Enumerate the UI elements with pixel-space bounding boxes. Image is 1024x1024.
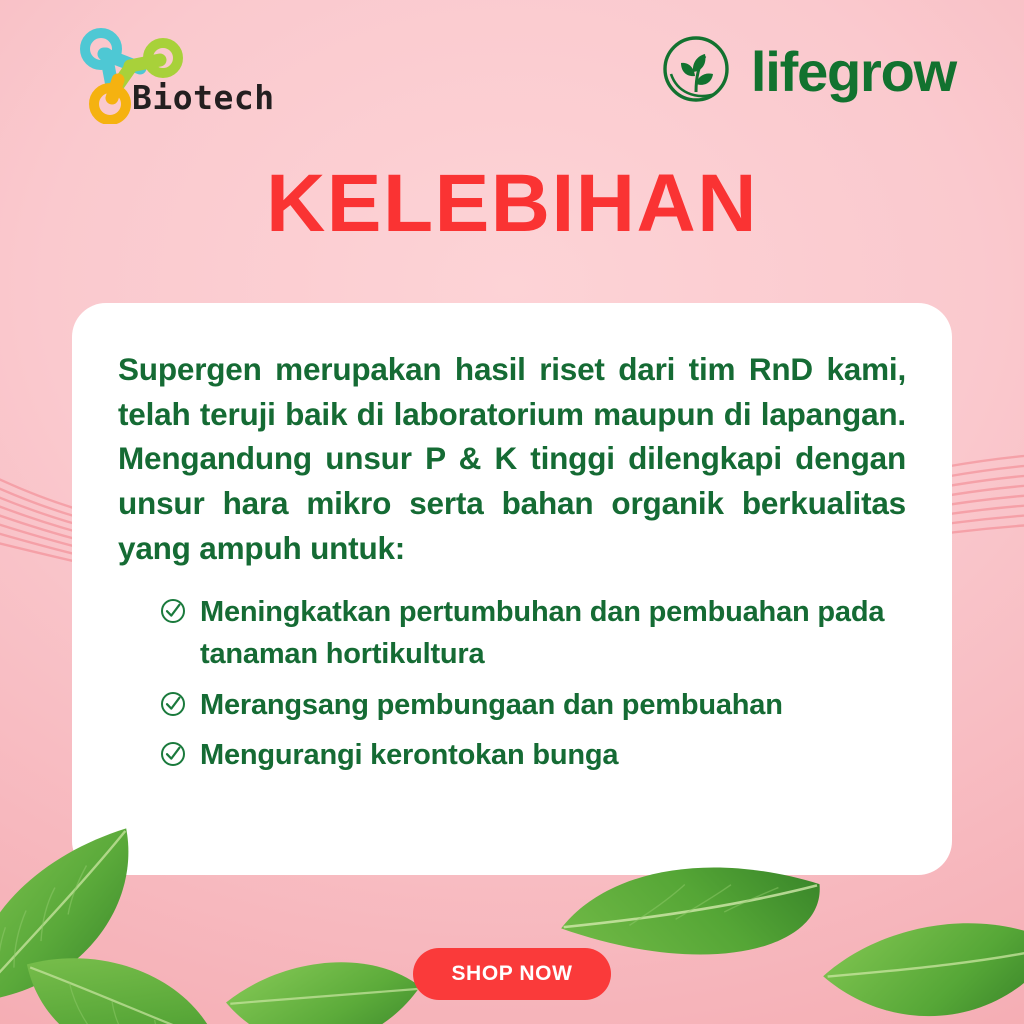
biotech-logo: Biotech [62,24,262,124]
leaf-icon [0,925,236,1024]
leaf-icon [218,933,438,1024]
page-title: KELEBIHAN [0,163,1024,245]
check-circle-icon [160,691,186,722]
check-circle-icon [160,598,186,629]
benefit-label: Meningkatkan pertumbuhan dan pembuahan p… [200,591,906,676]
list-item: Mengurangi kerontokan bunga [160,734,906,777]
benefits-list: Meningkatkan pertumbuhan dan pembuahan p… [118,591,906,778]
benefit-label: Mengurangi kerontokan bunga [200,734,618,777]
shop-now-button[interactable]: SHOP NOW [413,948,611,1000]
plant-in-circle-icon [657,30,735,113]
intro-paragraph: Supergen merupakan hasil riset dari tim … [118,347,906,571]
benefit-label: Merangsang pembungaan dan pembuahan [200,684,783,727]
list-item: Meningkatkan pertumbuhan dan pembuahan p… [160,591,906,676]
content-card: Supergen merupakan hasil riset dari tim … [72,303,952,875]
list-item: Merangsang pembungaan dan pembuahan [160,684,906,727]
leaf-icon [810,864,1024,1024]
lifegrow-wordmark: lifegrow [751,44,956,100]
check-circle-icon [160,741,186,772]
lifegrow-logo: lifegrow [657,30,956,113]
biotech-wordmark: Biotech [132,81,275,114]
promo-poster: Biotech lifegrow KELEBIHAN Supergen meru… [0,0,1024,1024]
